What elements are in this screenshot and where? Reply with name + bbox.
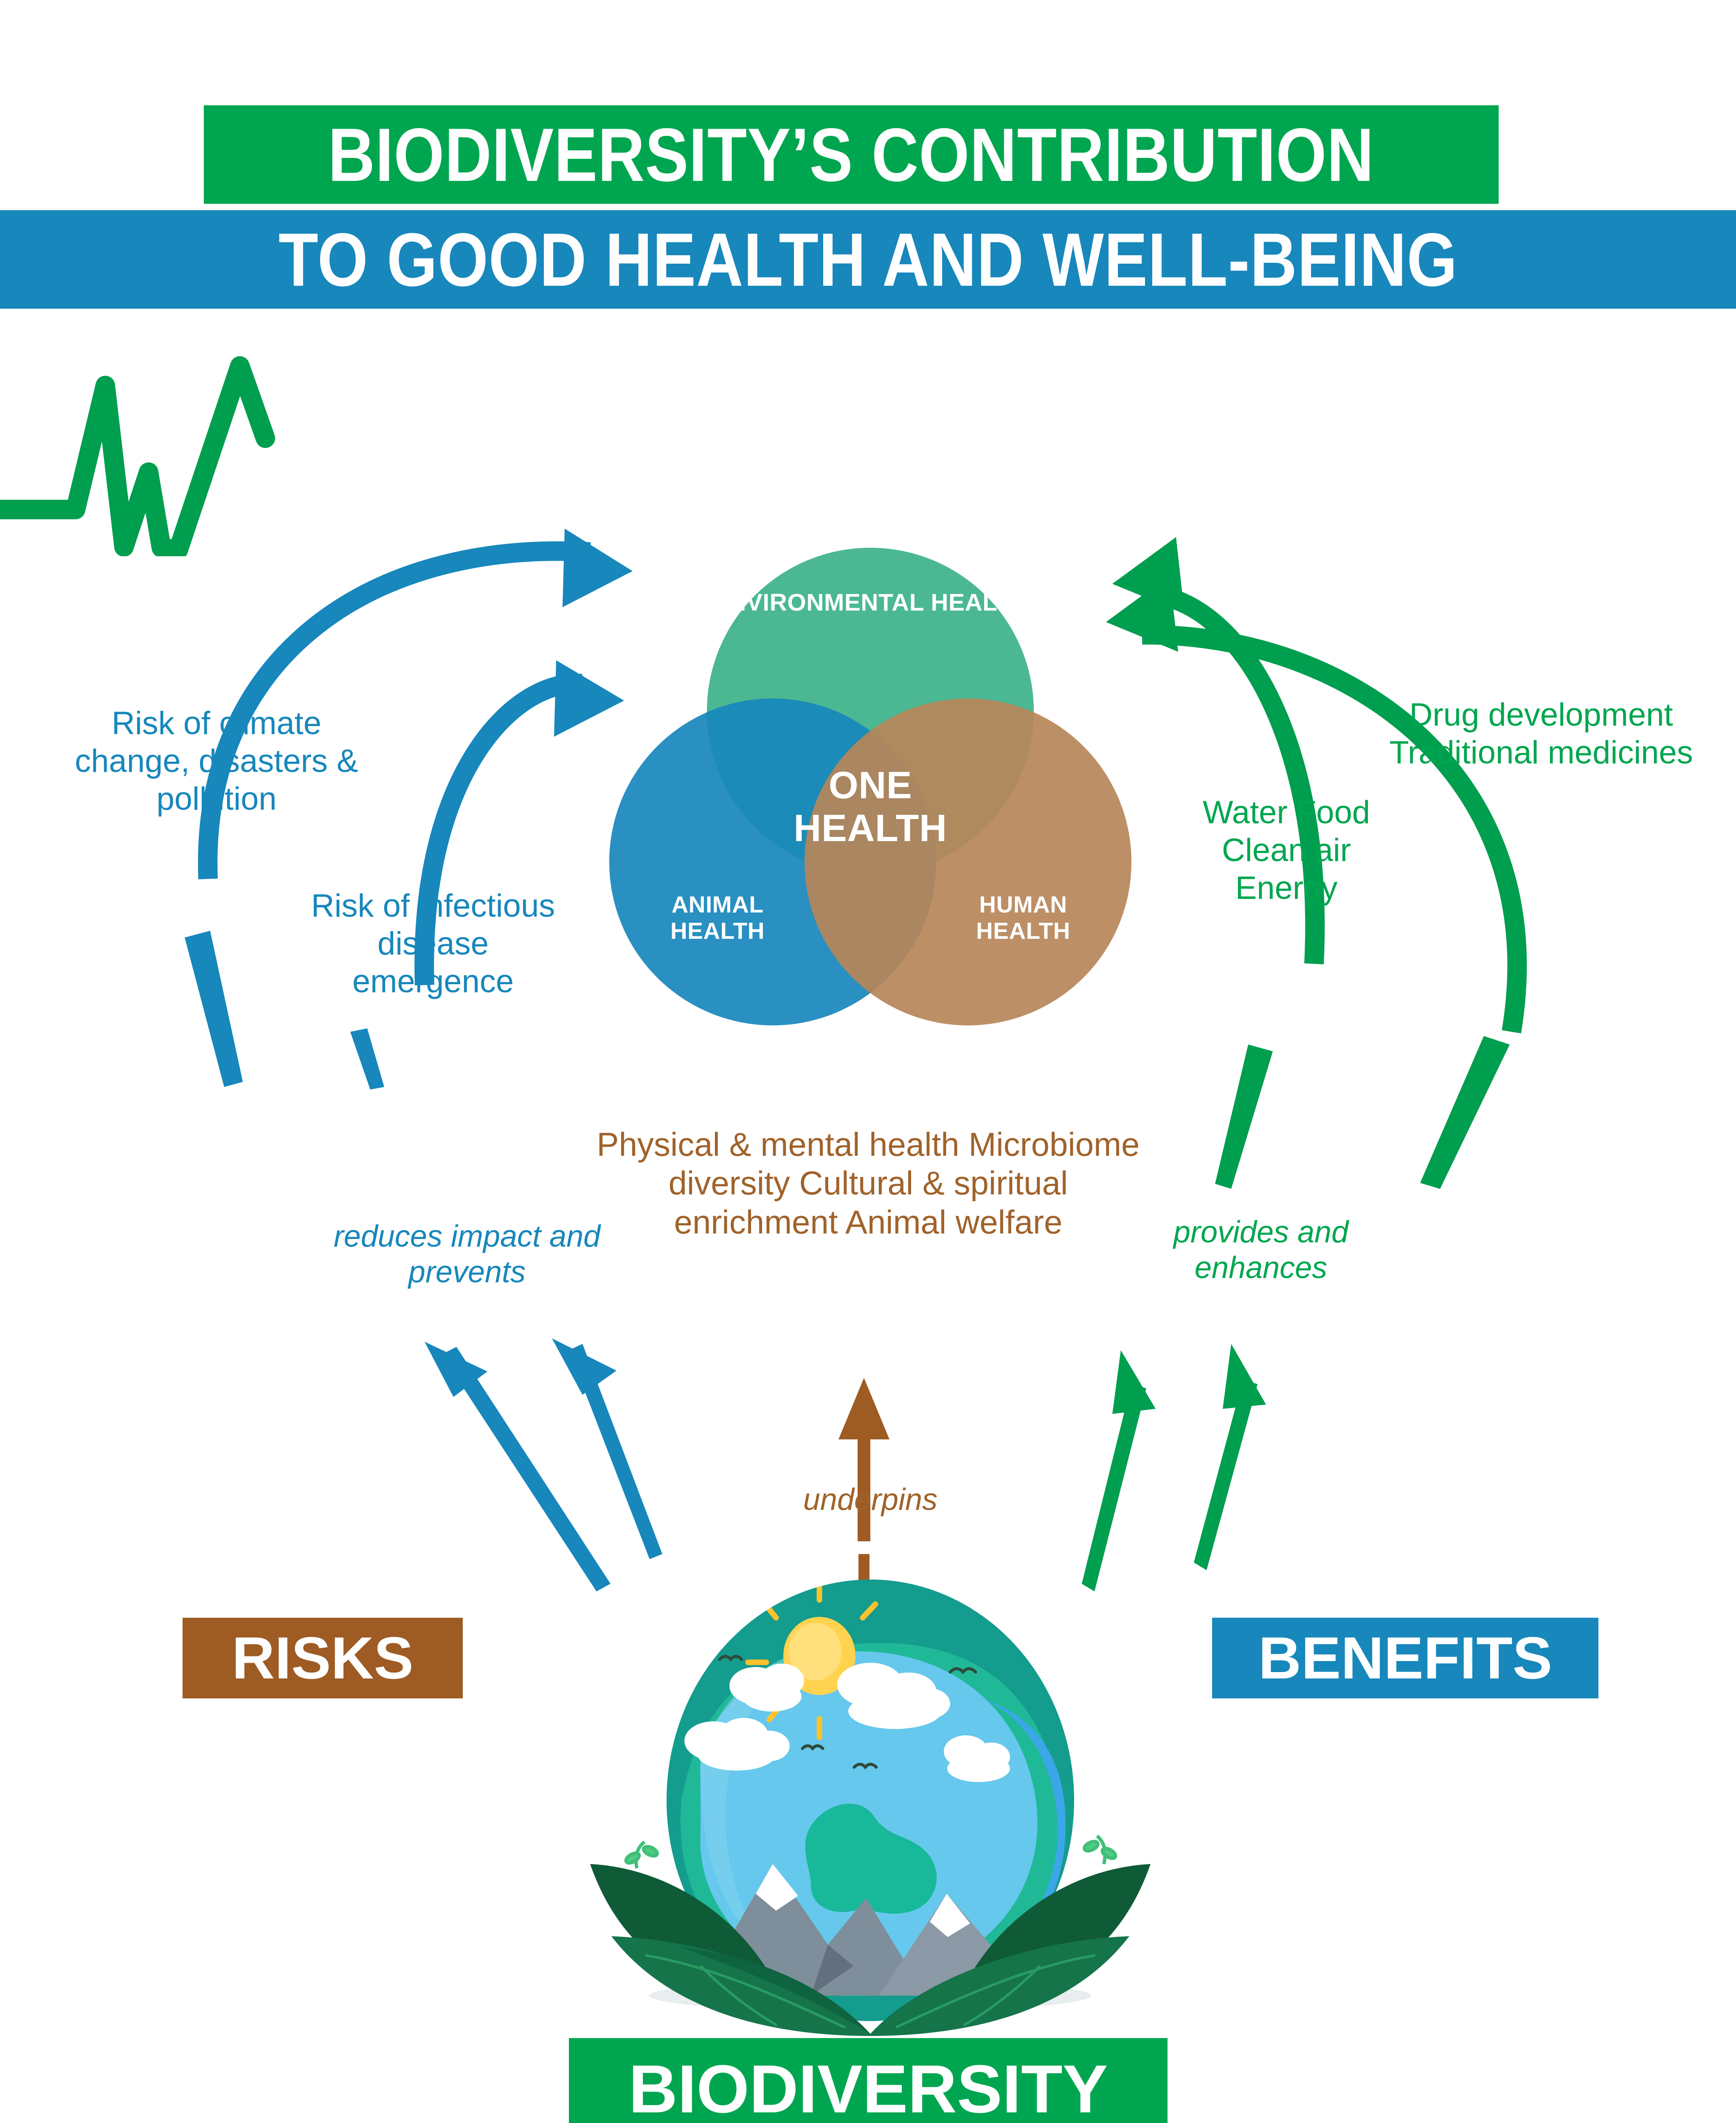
risks-badge: RISKS: [183, 1618, 463, 1698]
arrow-reduces-1-head: [425, 1342, 487, 1397]
relation-underpins-label: underpins: [739, 1482, 1002, 1518]
center-outcomes-label: Physical & mental health Microbiome dive…: [586, 1125, 1151, 1242]
arrow-benefit-tail-right: [1420, 1036, 1510, 1189]
venn-label-animal: ANIMAL HEALTH: [628, 892, 807, 944]
heartbeat-ecg-icon: [0, 335, 323, 556]
title-line-1: BIODIVERSITY’S CONTRIBUTION: [328, 111, 1374, 198]
arrow-reduces-2-head: [552, 1338, 616, 1395]
one-health-venn-diagram: ENVIRONMENTAL HEALTH ONE HEALTH ANIMAL H…: [599, 539, 1142, 1074]
benefit-resources-label: Water Food Clean air Energy: [1189, 794, 1384, 907]
title-line-2: TO GOOD HEALTH AND WELL-BEING: [279, 216, 1457, 303]
arrow-risk-tail-left: [185, 931, 243, 1087]
biodiversity-badge: BIODIVERSITY: [569, 2038, 1168, 2123]
venn-label-environmental: ENVIRONMENTAL HEALTH: [701, 589, 1040, 617]
earth-biodiversity-illustration: [573, 1571, 1168, 2038]
arrow-provides-1-shaft: [1082, 1383, 1146, 1591]
relation-reduces-label: reduces impact and prevents: [289, 1219, 645, 1290]
relation-provides-label: provides and enhances: [1112, 1214, 1410, 1286]
arrow-risk-tail-right: [350, 1028, 384, 1090]
benefit-medicine-label: Drug development Traditional medicines: [1371, 696, 1711, 772]
venn-label-one-health: ONE HEALTH: [756, 764, 985, 850]
arrow-provides-1-head: [1112, 1350, 1156, 1414]
benefits-badge: BENEFITS: [1212, 1618, 1598, 1698]
arrow-underpins-head: [838, 1378, 889, 1439]
venn-label-human: HUMAN HEALTH: [934, 892, 1112, 944]
arrow-provides-2-head: [1223, 1344, 1266, 1409]
arrow-reduces-1-shaft: [442, 1347, 611, 1591]
venn-circle-human: [805, 698, 1131, 1025]
arrow-benefit-tail-left: [1215, 1045, 1273, 1189]
arrow-benefit-water-curve: [1155, 594, 1315, 964]
title-banner-green: BIODIVERSITY’S CONTRIBUTION: [204, 105, 1499, 204]
arrow-provides-2-shaft: [1194, 1379, 1258, 1570]
risk-climate-label: Risk of climate change, disasters & poll…: [51, 705, 382, 818]
risk-infectious-label: Risk of infectious disease emergence: [297, 887, 569, 1001]
arrow-reduces-2-shaft: [569, 1344, 662, 1559]
title-banner-blue: TO GOOD HEALTH AND WELL-BEING: [0, 210, 1736, 309]
